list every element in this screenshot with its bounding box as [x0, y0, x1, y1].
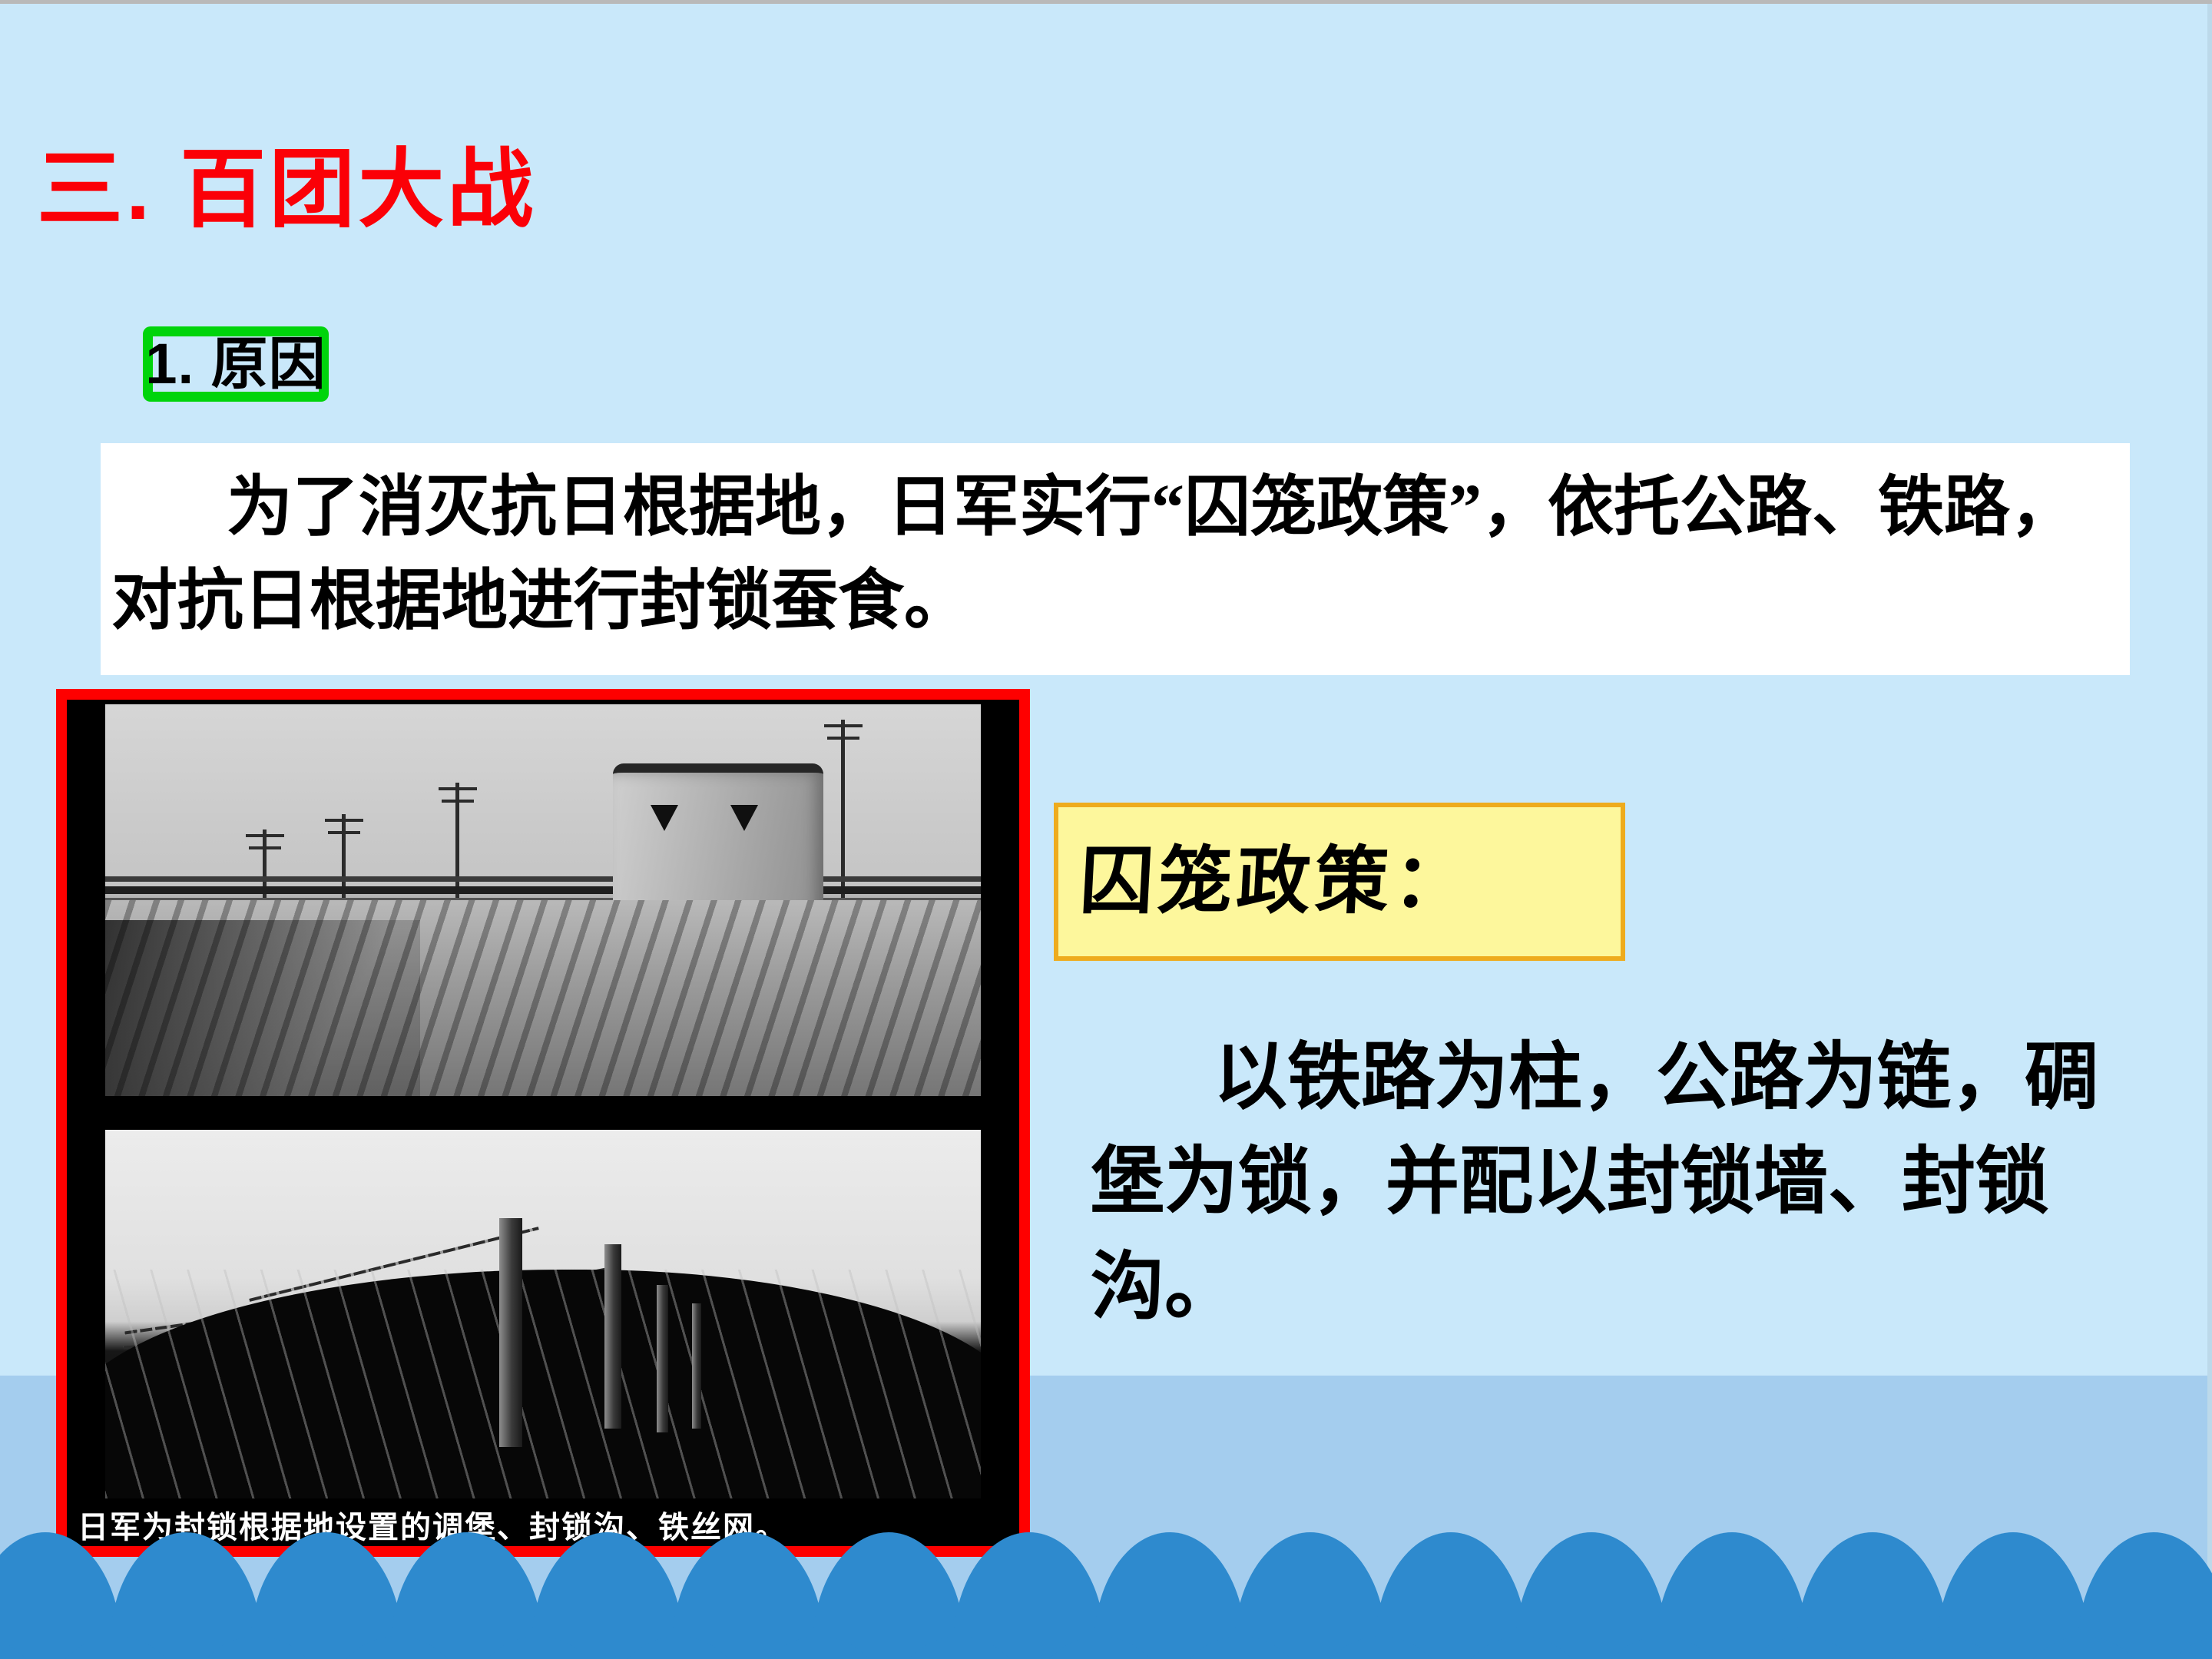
historical-photo-frame: 日军为封锁根据地设置的调堡、封锁沟、铁丝网。: [56, 689, 1030, 1557]
blockhouse-tower: [613, 763, 823, 922]
blockhouse-icon: [105, 704, 981, 1096]
page-title: 三. 百团大战: [37, 141, 536, 240]
reason-paragraph: 为了消灭抗日根据地，日军实行“囚笼政策”，依托公路、铁路，对抗日根据地进行封锁蚕…: [111, 460, 2104, 647]
fence-post: [657, 1285, 668, 1432]
reason-panel: 为了消灭抗日根据地，日军实行“囚笼政策”，依托公路、铁路，对抗日根据地进行封锁蚕…: [101, 443, 2130, 675]
fence-post: [499, 1218, 522, 1447]
section-label-text: 1. 原因: [145, 336, 326, 392]
slide-right-edge: [2207, 4, 2212, 1659]
photo-sky: [105, 704, 981, 889]
term-callout-label: 囚笼政策：: [1078, 845, 1473, 919]
barbed-wire-icon: [105, 1130, 981, 1498]
historical-photo-inner: 日军为封锁根据地设置的调堡、封锁沟、铁丝网。: [67, 700, 1019, 1546]
railway-line: [105, 876, 981, 882]
trench-shadow: [105, 920, 420, 1097]
fence-post: [692, 1303, 701, 1429]
section-label-box: 1. 原因: [143, 326, 329, 402]
railway-line: [105, 886, 981, 894]
embrasure-icon: [730, 805, 758, 831]
photo-caption: 日军为封锁根据地设置的调堡、封锁沟、铁丝网。: [78, 1512, 1008, 1543]
fence-post: [604, 1244, 621, 1429]
presentation-slide: 三. 百团大战 1. 原因 为了消灭抗日根据地，日军实行“囚笼政策”，依托公路、…: [0, 0, 2212, 1659]
term-explanation: 以铁路为柱，公路为链，碉堡为锁，并配以封锁墙、封锁沟。: [1091, 1025, 2166, 1339]
term-callout-box: 囚笼政策：: [1054, 803, 1625, 961]
embrasure-icon: [651, 805, 678, 831]
earth-mound-streaks: [105, 1270, 981, 1498]
telegraph-pole-icon: [841, 720, 845, 900]
telegraph-pole-icon: [455, 783, 459, 900]
